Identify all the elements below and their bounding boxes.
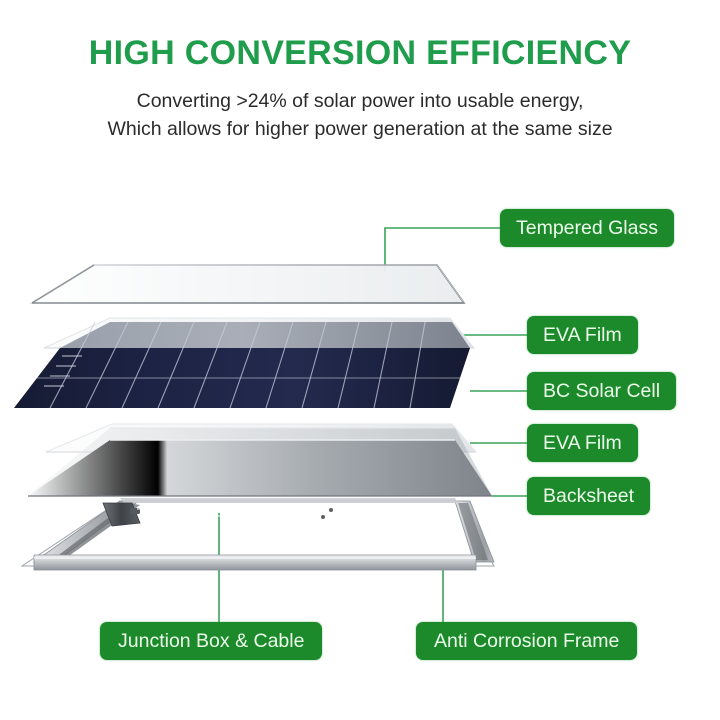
label-bc-solar-cell[interactable]: BC Solar Cell (527, 372, 676, 410)
label-backsheet[interactable]: Backsheet (527, 477, 650, 515)
layer-tempered-glass (32, 265, 464, 303)
infographic-canvas: HIGH CONVERSION EFFICIENCY Converting >2… (0, 0, 720, 720)
label-anti-corrosion-frame[interactable]: Anti Corrosion Frame (416, 622, 637, 660)
solar-panel-exploded-diagram (0, 0, 720, 720)
cable-lower (139, 515, 325, 519)
label-eva-film-bottom[interactable]: EVA Film (527, 424, 638, 462)
label-junction-box-cable[interactable]: Junction Box & Cable (100, 622, 322, 660)
label-eva-film-top[interactable]: EVA Film (527, 316, 638, 354)
label-tempered-glass[interactable]: Tempered Glass (500, 209, 674, 247)
cable-upper (137, 508, 333, 512)
